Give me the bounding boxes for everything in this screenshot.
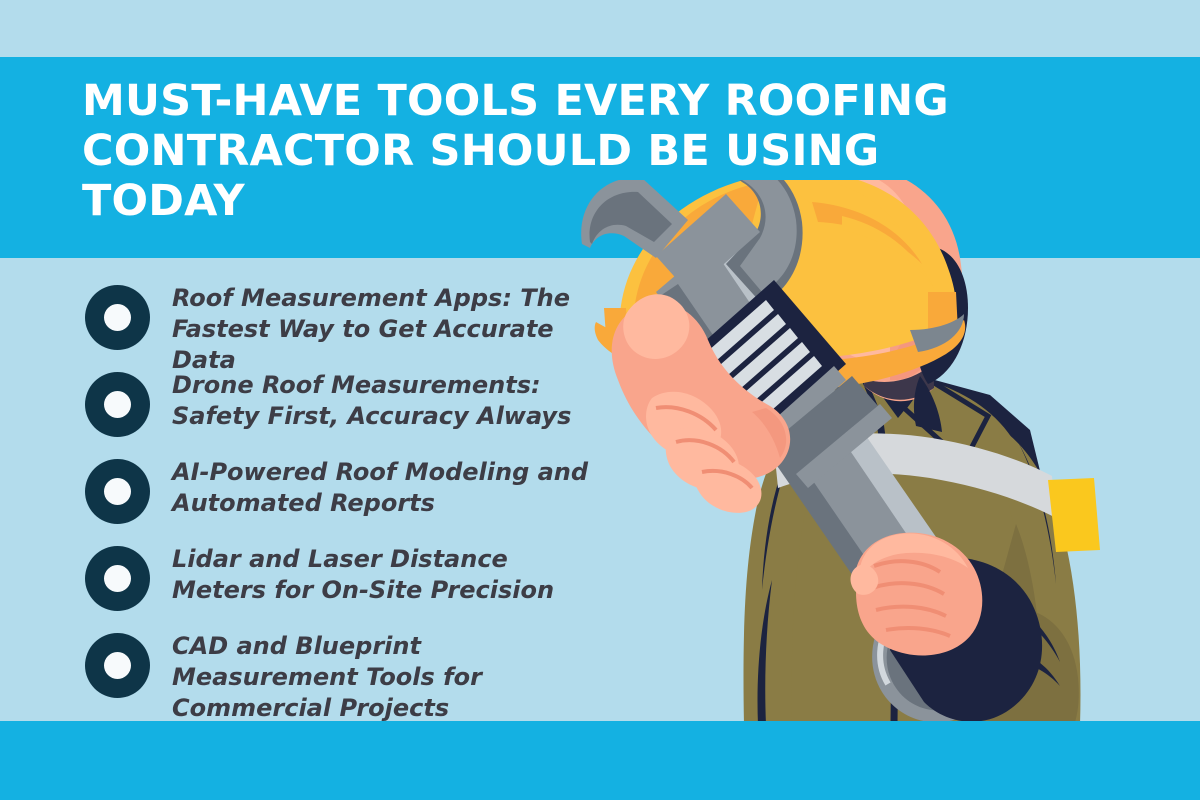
bullet-marker-icon [85, 633, 150, 698]
bullet-marker-icon [85, 285, 150, 350]
bullet-dot-icon [104, 652, 131, 679]
bullet-marker-icon [85, 546, 150, 611]
list-item[interactable]: Lidar and Laser Distance Meters for On-S… [85, 546, 605, 633]
arm-patch-icon [1048, 478, 1100, 552]
list-item[interactable]: Drone Roof Measurements: Safety First, A… [85, 372, 605, 459]
worker-illustration [560, 180, 1200, 725]
list-item[interactable]: Roof Measurement Apps: The Fastest Way t… [85, 285, 605, 372]
list-item-label: Drone Roof Measurements: Safety First, A… [172, 370, 602, 432]
bullet-dot-icon [104, 391, 131, 418]
bullet-dot-icon [104, 478, 131, 505]
bullet-dot-icon [104, 565, 131, 592]
list-item-label: CAD and Blueprint Measurement Tools for … [172, 631, 602, 724]
list-item-label: Roof Measurement Apps: The Fastest Way t… [172, 283, 602, 376]
list-item[interactable]: AI-Powered Roof Modeling and Automated R… [85, 459, 605, 546]
bullet-dot-icon [104, 304, 131, 331]
page-title-line-2: CONTRACTOR SHOULD BE USING [82, 126, 1042, 176]
list-item-label: AI-Powered Roof Modeling and Automated R… [172, 457, 602, 519]
infographic-canvas: MUST-HAVE TOOLS EVERY ROOFING CONTRACTOR… [0, 0, 1200, 800]
list-item[interactable]: CAD and Blueprint Measurement Tools for … [85, 633, 605, 720]
tools-list: Roof Measurement Apps: The Fastest Way t… [85, 285, 605, 720]
bullet-marker-icon [85, 372, 150, 437]
page-title-line-1: MUST-HAVE TOOLS EVERY ROOFING [82, 76, 1042, 126]
footer-banner [0, 721, 1200, 800]
list-item-label: Lidar and Laser Distance Meters for On-S… [172, 544, 602, 606]
bullet-marker-icon [85, 459, 150, 524]
